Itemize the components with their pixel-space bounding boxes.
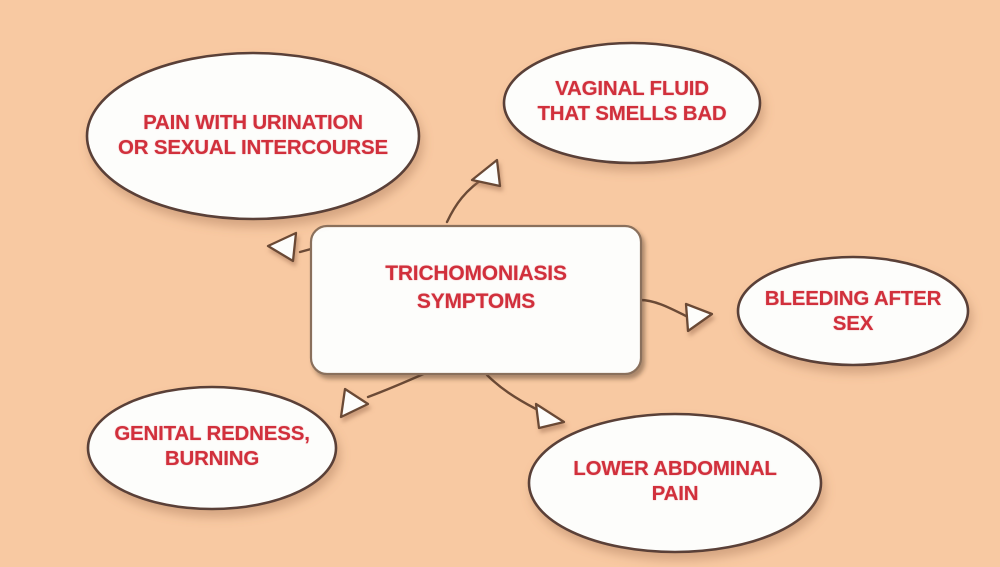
node-shape-vaginal-fluid-smells-bad[interactable] [504, 43, 760, 163]
diagram-graphics [0, 0, 1000, 567]
arrowhead-vaginal-fluid [472, 160, 500, 186]
connector-line-lower-abdominal-pain [487, 375, 536, 409]
node-shape-genital-redness-burning[interactable] [88, 387, 336, 509]
node-shape-lower-abdominal-pain[interactable] [529, 414, 821, 552]
arrowhead-lower-abdominal-pain [536, 404, 564, 428]
arrowhead-bleeding-after-sex [686, 304, 712, 331]
center-node-shape[interactable] [311, 226, 641, 374]
node-shape-bleeding-after-sex[interactable] [738, 257, 968, 365]
diagram-canvas: TRICHOMONIASIS SYMPTOMS PAIN WITH URINAT… [0, 0, 1000, 567]
arrowhead-genital-redness [341, 389, 368, 417]
connector-line-bleeding-after-sex [640, 300, 686, 316]
connector-line-genital-redness [368, 372, 428, 397]
node-shape-pain-with-urination[interactable] [87, 53, 419, 219]
arrowhead-pain-with-urination [268, 233, 296, 261]
